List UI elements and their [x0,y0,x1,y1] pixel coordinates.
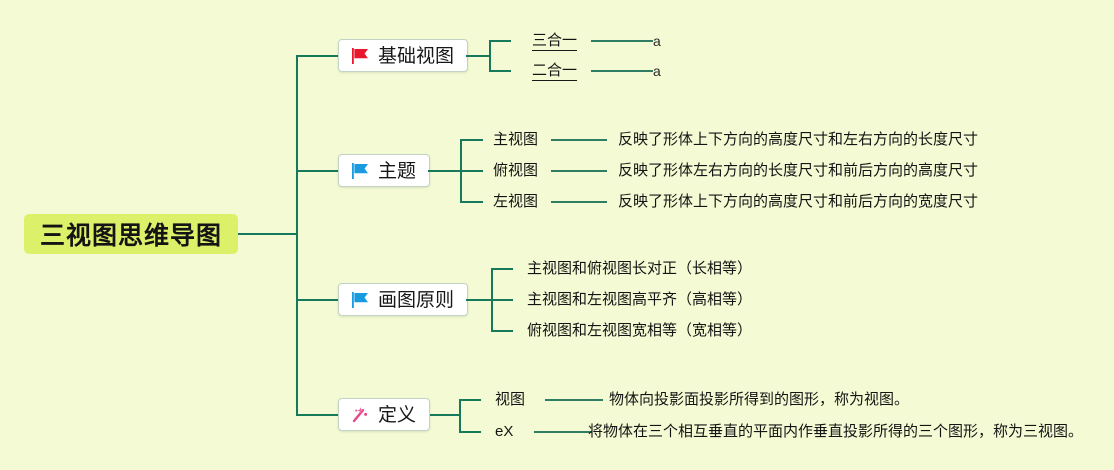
leaf-value: 反映了形体左右方向的长度尺寸和前后方向的高度尺寸 [618,163,978,178]
leaf-value: 反映了形体上下方向的高度尺寸和前后方向的宽度尺寸 [618,194,978,209]
root-node-label: 三视图思维导图 [40,216,222,252]
sub-stub-1 [466,55,490,57]
pink-sparkle-icon [349,404,371,426]
sub-arm-1-1 [489,40,511,42]
leaf-label[interactable]: 主视图和俯视图长对正（长相等） [527,261,752,276]
branch-arm-4 [296,414,338,416]
branch-node-主题[interactable]: 主题 [338,154,430,187]
leaf-label[interactable]: 俯视图和左视图宽相等（宽相等） [527,323,752,338]
leaf-value: a [653,34,661,48]
leaf-connector [551,139,607,141]
leaf-value: 反映了形体上下方向的高度尺寸和左右方向的长度尺寸 [618,132,978,147]
sub-arm-2-2 [460,170,483,172]
branch-arm-3 [296,299,338,301]
root-node[interactable]: 三视图思维导图 [24,214,238,254]
trunk-stub [238,233,298,235]
branch-arm-2 [296,170,338,172]
sub-arm-3-2 [491,299,513,301]
leaf-label[interactable]: 俯视图 [493,163,538,178]
trunk-spine [296,56,298,416]
leaf-label[interactable]: 二合一 [532,63,577,81]
leaf-connector [551,170,607,172]
leaf-connector [534,431,592,433]
branch-node-定义[interactable]: 定义 [338,398,430,431]
sub-stub-2 [428,170,461,172]
red-flag-icon [349,45,371,67]
leaf-label[interactable]: 主视图 [493,132,538,147]
leaf-connector [545,399,603,401]
branch-node-基础视图[interactable]: 基础视图 [338,39,468,72]
mindmap-canvas: 三视图思维导图 基础视图 三合一 a 二合一 a 主题 [0,0,1114,470]
sub-arm-4-1 [459,399,481,401]
sub-spine-4 [459,400,461,432]
leaf-connector [591,40,653,42]
branch-arm-1 [296,55,338,57]
branch-node-label: 定义 [378,406,416,425]
sub-arm-3-1 [491,268,513,270]
leaf-value: 将物体在三个相互垂直的平面内作垂直投影所得的三个图形，称为三视图。 [588,424,1083,439]
branch-node-画图原则[interactable]: 画图原则 [338,283,468,316]
sub-arm-4-2 [459,431,481,433]
leaf-label[interactable]: 左视图 [493,194,538,209]
sub-arm-3-3 [491,330,513,332]
leaf-connector [591,70,653,72]
leaf-value: a [653,64,661,78]
sub-arm-1-2 [489,70,511,72]
branch-node-label: 主题 [378,162,416,181]
branch-node-label: 基础视图 [378,47,454,66]
leaf-connector [551,201,607,203]
leaf-label[interactable]: 三合一 [532,33,577,51]
leaf-value: 物体向投影面投影所得到的图形，称为视图。 [609,392,909,407]
blue-flag-icon [349,160,371,182]
leaf-label[interactable]: 视图 [495,392,525,407]
leaf-label[interactable]: 主视图和左视图高平齐（高相等） [527,292,752,307]
sub-arm-2-3 [460,201,483,203]
sub-stub-4 [430,414,460,416]
leaf-label[interactable]: eX [495,424,513,439]
branch-node-label: 画图原则 [378,291,454,310]
sub-spine-1 [489,41,491,71]
sub-arm-2-1 [460,139,483,141]
sub-stub-3 [466,299,492,301]
blue-flag-icon [349,289,371,311]
